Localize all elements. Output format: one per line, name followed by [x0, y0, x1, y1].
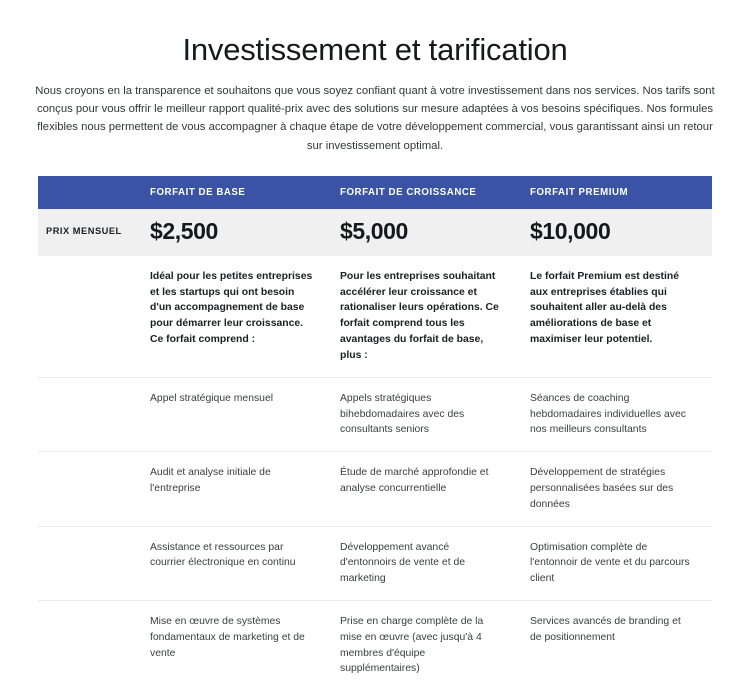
table-row: Audit et analyse initiale de l'entrepris…	[38, 452, 712, 526]
feature-cell-premium: Développement de stratégies personnalisé…	[522, 452, 712, 526]
feature-cell-growth: Prise en charge complète de la mise en œ…	[332, 601, 522, 690]
pricing-table: FORFAIT DE BASE FORFAIT DE CROISSANCE FO…	[38, 176, 712, 690]
table-row: Idéal pour les petites entreprises et le…	[38, 256, 712, 377]
feature-cell-basic: Audit et analyse initiale de l'entrepris…	[142, 452, 332, 526]
header-corner-cell	[38, 176, 142, 209]
feature-cell-basic: Idéal pour les petites entreprises et le…	[142, 256, 332, 377]
price-row-label: PRIX MENSUEL	[38, 209, 142, 256]
price-value-premium: $10,000	[522, 209, 712, 256]
row-label-cell	[38, 601, 142, 690]
table-row: Mise en œuvre de systèmes fondamentaux d…	[38, 601, 712, 690]
feature-cell-growth: Développement avancé d'entonnoirs de ven…	[332, 526, 522, 600]
table-row: Assistance et ressources par courrier él…	[38, 526, 712, 600]
price-value-growth: $5,000	[332, 209, 522, 256]
plan-header-row: FORFAIT DE BASE FORFAIT DE CROISSANCE FO…	[38, 176, 712, 209]
pricing-page: Investissement et tarification Nous croy…	[0, 0, 750, 565]
price-row: PRIX MENSUEL $2,500 $5,000 $10,000	[38, 209, 712, 256]
feature-cell-basic: Assistance et ressources par courrier él…	[142, 526, 332, 600]
feature-cell-basic: Appel stratégique mensuel	[142, 377, 332, 451]
intro-paragraph: Nous croyons en la transparence et souha…	[33, 68, 717, 155]
page-title: Investissement et tarification	[0, 0, 750, 68]
row-label-cell	[38, 256, 142, 377]
table-row: Appel stratégique mensuel Appels stratég…	[38, 377, 712, 451]
row-label-cell	[38, 526, 142, 600]
feature-cell-growth: Appels stratégiques bihebdomadaires avec…	[332, 377, 522, 451]
row-label-cell	[38, 377, 142, 451]
feature-cell-growth: Étude de marché approfondie et analyse c…	[332, 452, 522, 526]
feature-cell-basic: Mise en œuvre de systèmes fondamentaux d…	[142, 601, 332, 690]
feature-cell-premium: Optimisation complète de l'entonnoir de …	[522, 526, 712, 600]
row-label-cell	[38, 452, 142, 526]
feature-cell-premium: Séances de coaching hebdomadaires indivi…	[522, 377, 712, 451]
column-header-growth: FORFAIT DE CROISSANCE	[332, 176, 522, 209]
pricing-table-head: FORFAIT DE BASE FORFAIT DE CROISSANCE FO…	[38, 176, 712, 209]
column-header-premium: FORFAIT PREMIUM	[522, 176, 712, 209]
price-value-basic: $2,500	[142, 209, 332, 256]
feature-cell-premium: Le forfait Premium est destiné aux entre…	[522, 256, 712, 377]
feature-cell-premium: Services avancés de branding et de posit…	[522, 601, 712, 690]
feature-cell-growth: Pour les entreprises souhaitant accélére…	[332, 256, 522, 377]
column-header-basic: FORFAIT DE BASE	[142, 176, 332, 209]
pricing-table-body: PRIX MENSUEL $2,500 $5,000 $10,000 Idéal…	[38, 209, 712, 690]
